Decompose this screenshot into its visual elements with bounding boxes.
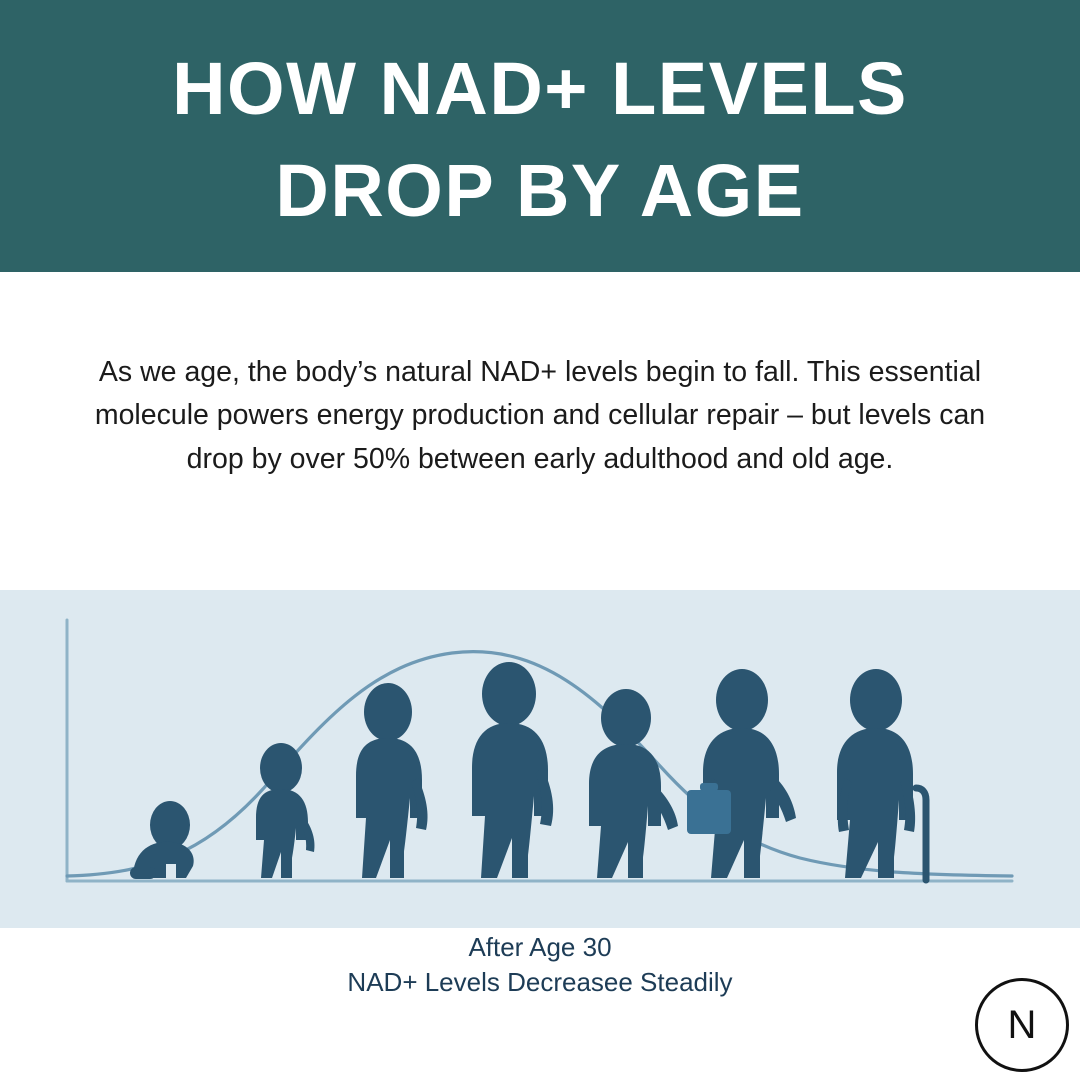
figure-child: [356, 683, 428, 878]
figure-toddler: [256, 743, 315, 878]
figure-infant-crawling: [130, 801, 194, 879]
figure-elderly-with-cane: [837, 669, 926, 880]
figure-teen: [472, 662, 553, 878]
header-banner: HOW NAD+ LEVELS DROP BY AGE: [0, 0, 1080, 272]
intro-section: As we age, the body’s natural NAD+ level…: [0, 272, 1080, 590]
brand-logo: N: [975, 978, 1069, 1072]
walking-cane: [916, 788, 926, 880]
intro-paragraph: As we age, the body’s natural NAD+ level…: [85, 351, 995, 481]
chart-caption: After Age 30 NAD+ Levels Decreasee Stead…: [0, 930, 1080, 1000]
page-title-line-2: DROP BY AGE: [275, 140, 804, 242]
caption-line-2: NAD+ Levels Decreasee Steadily: [0, 965, 1080, 1000]
figure-young-adult: [589, 689, 678, 878]
figure-adult-walking: [687, 669, 796, 878]
briefcase: [687, 790, 731, 834]
page-title-line-1: HOW NAD+ LEVELS: [172, 38, 908, 140]
chart-panel: 0 8 3 6 12 9 18 15 30 25 40 30 50 45 60 …: [0, 590, 1080, 928]
logo-letter-n: N: [1008, 1005, 1037, 1045]
caption-line-1: After Age 30: [0, 930, 1080, 965]
nad-decline-chart: [0, 590, 1080, 928]
